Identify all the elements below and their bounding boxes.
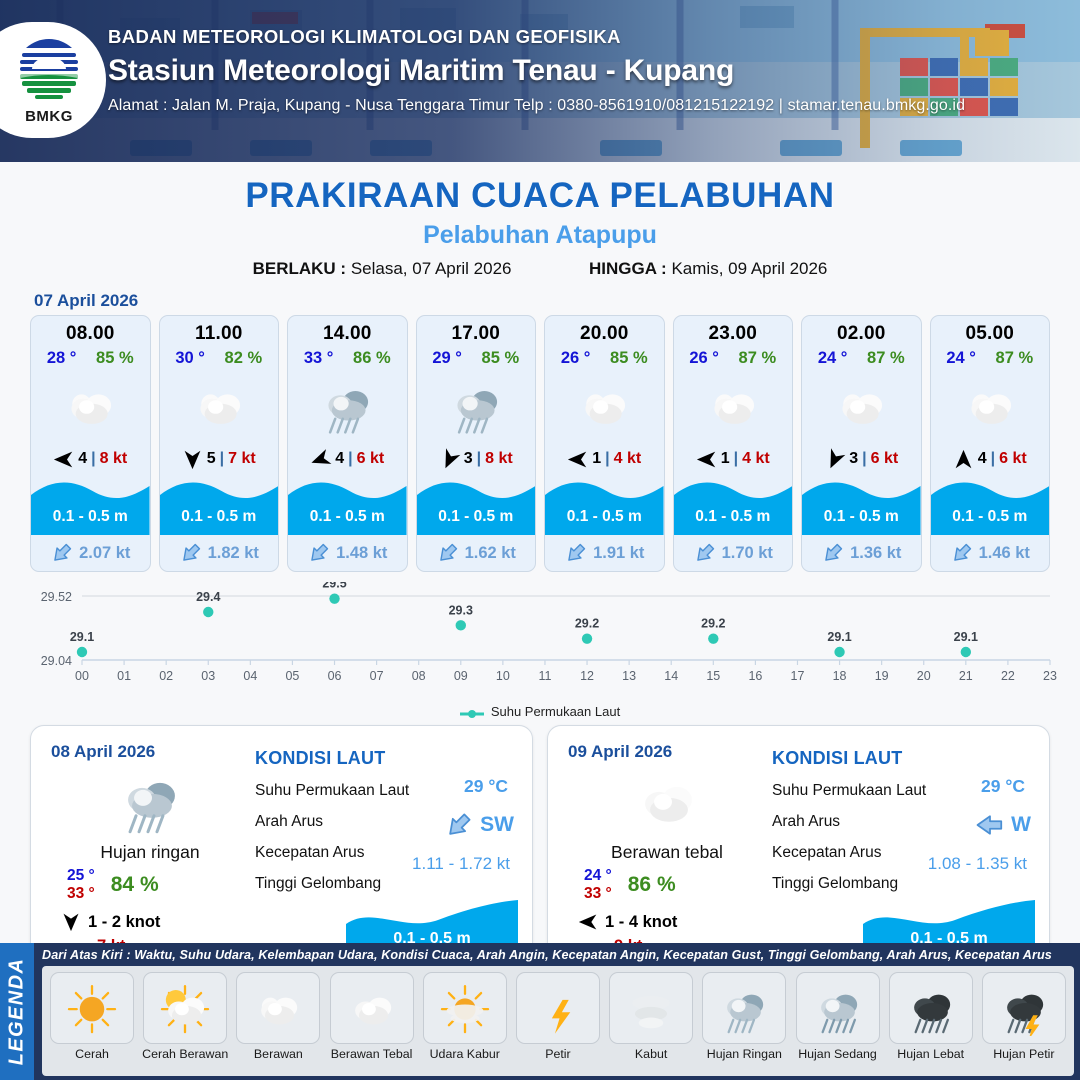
card-current: 1.91 kt: [545, 535, 664, 571]
hujan-lebat-icon: [901, 980, 961, 1035]
card-wave-height: 0.1 - 0.5 m: [674, 508, 793, 526]
page-subtitle: Pelabuhan Atapupu: [0, 221, 1080, 250]
svg-text:02: 02: [159, 669, 173, 683]
card-humidity: 86 %: [353, 349, 391, 368]
card-temperature: 26 °: [689, 349, 719, 368]
card-wind: 1 | 4 kt: [674, 442, 793, 476]
svg-text:17: 17: [791, 669, 805, 683]
bmkg-emblem-icon: [12, 36, 86, 102]
svg-text:29.1: 29.1: [70, 630, 94, 644]
outlook-temp-max: 33 °: [584, 885, 612, 903]
card-weather-icon: [288, 370, 407, 440]
card-wind-dir-number: 1: [721, 450, 730, 468]
outlook-condition: Hujan ringan: [51, 842, 249, 863]
cerah-icon: [62, 980, 122, 1035]
svg-text:29.5: 29.5: [322, 582, 346, 591]
berawan-tebal-icon: [342, 980, 402, 1035]
legend-item-icon: [609, 972, 693, 1044]
card-wind-dir-number: 4: [335, 450, 344, 468]
card-time: 14.00: [288, 323, 407, 345]
svg-text:05: 05: [285, 669, 299, 683]
kabut-icon: [621, 980, 681, 1035]
wave-shape-icon: [31, 477, 150, 535]
cerah-berawan-icon: [155, 980, 215, 1035]
wave-shape-icon: [545, 477, 664, 535]
svg-text:13: 13: [622, 669, 636, 683]
wind-direction-icon: [307, 446, 334, 473]
legend-item-icon: [982, 972, 1066, 1044]
card-wave-height: 0.1 - 0.5 m: [545, 508, 664, 526]
current-direction-icon: [431, 536, 465, 570]
berawan-icon: [186, 375, 252, 436]
valid-from-value: Selasa, 07 April 2026: [351, 259, 512, 278]
current-direction-value: W: [975, 810, 1031, 840]
svg-text:11: 11: [538, 669, 551, 683]
header-text-block: BADAN METEOROLOGI KLIMATOLOGI DAN GEOFIS…: [108, 26, 965, 115]
card-wind-separator: |: [605, 450, 609, 468]
forecast-card: 14.00 33 ° 86 % 4 | 6 kt 0.1 - 0.5 m 1.: [287, 315, 408, 572]
hujan-ringan-icon: [314, 375, 380, 436]
card-current: 1.46 kt: [931, 535, 1050, 571]
svg-text:08: 08: [412, 669, 426, 683]
wave-shape-icon: [674, 477, 793, 535]
legend-item-icon: [50, 972, 134, 1044]
wave-shape-icon: [417, 477, 536, 535]
current-speed-label: Kecepatan Arus: [772, 844, 881, 862]
card-current-speed: 1.48 kt: [336, 544, 387, 563]
sst-chart-svg: 29.5229.04000102030405060708091011121314…: [20, 582, 1060, 702]
current-direction-icon: [174, 536, 208, 570]
card-current: 2.07 kt: [31, 535, 150, 571]
station-address: Alamat : Jalan M. Praja, Kupang - Nusa T…: [108, 97, 965, 115]
card-current-speed: 1.70 kt: [722, 544, 773, 563]
card-humidity: 85 %: [96, 349, 134, 368]
legend-item-label: Cerah: [46, 1047, 138, 1061]
outlook-weather-icon: [568, 764, 766, 836]
legend-items: Cerah Cerah Berawan Berawan Berawan Teba…: [42, 966, 1074, 1076]
hujan-ringan-icon: [443, 375, 509, 436]
current-direction-icon: [688, 536, 722, 570]
card-temperature: 24 °: [818, 349, 848, 368]
station-name: Stasiun Meteorologi Maritim Tenau - Kupa…: [108, 54, 965, 88]
outlook-wind-text: 1 - 4 knot: [605, 913, 677, 932]
legend-note: Dari Atas Kiri : Waktu, Suhu Udara, Kele…: [42, 948, 1074, 962]
svg-text:18: 18: [833, 669, 847, 683]
svg-text:29.04: 29.04: [41, 654, 72, 668]
card-wind-separator: |: [477, 450, 481, 468]
card-current: 1.62 kt: [417, 535, 536, 571]
card-wind-separator: |: [991, 450, 995, 468]
sst-chart: 29.5229.04000102030405060708091011121314…: [20, 582, 1060, 702]
current-direction-text: W: [1011, 813, 1031, 837]
valid-to-label: HINGGA :: [589, 259, 667, 278]
svg-text:06: 06: [328, 669, 342, 683]
page-header: BMKG BADAN METEOROLOGI KLIMATOLOGI DAN G…: [0, 0, 1080, 162]
legend-item-label: Hujan Petir: [978, 1047, 1070, 1061]
card-wind-speed: 6 kt: [871, 450, 899, 468]
sst-chart-legend: Suhu Permukaan Laut: [0, 704, 1080, 719]
legend-item-icon: [330, 972, 414, 1044]
card-weather-icon: [931, 370, 1050, 440]
legend-item-label: Cerah Berawan: [139, 1047, 231, 1061]
forecast-card: 02.00 24 ° 87 % 3 | 6 kt 0.1 - 0.5 m 1.: [801, 315, 922, 572]
daily-outlook-row: 08 April 2026 Hujan ringan 25 ° 33 ° 84 …: [0, 719, 1080, 973]
current-direction-label: Arah Arus: [255, 813, 323, 831]
wind-direction-icon: [567, 449, 588, 470]
card-wind-separator: |: [91, 450, 95, 468]
svg-text:20: 20: [917, 669, 931, 683]
legend-item-icon: [143, 972, 227, 1044]
card-weather-icon: [802, 370, 921, 440]
card-wind: 4 | 6 kt: [931, 442, 1050, 476]
sea-conditions-heading: KONDISI LAUT: [255, 748, 514, 769]
current-speed-value: 1.08 - 1.35 kt: [928, 854, 1027, 874]
current-direction-icon: [945, 536, 979, 570]
hujan-sedang-icon: [808, 980, 868, 1035]
card-temperature: 28 °: [47, 349, 77, 368]
legend-item-icon: [889, 972, 973, 1044]
bmkg-logo-text: BMKG: [11, 108, 87, 125]
legend-bar: LEGENDA Dari Atas Kiri : Waktu, Suhu Uda…: [0, 943, 1080, 1080]
card-wave-block: 0.1 - 0.5 m: [31, 477, 150, 535]
card-wave-block: 0.1 - 0.5 m: [674, 477, 793, 535]
current-direction-value: SW: [444, 810, 514, 840]
svg-text:22: 22: [1001, 669, 1015, 683]
berawan-icon: [248, 980, 308, 1035]
card-wind-dir-number: 4: [78, 450, 87, 468]
card-wave-block: 0.1 - 0.5 m: [931, 477, 1050, 535]
valid-to-value: Kamis, 09 April 2026: [671, 259, 827, 278]
card-wind-speed: 7 kt: [228, 450, 256, 468]
card-wind-speed: 6 kt: [999, 450, 1027, 468]
wind-direction-icon: [953, 449, 974, 470]
wave-shape-icon: [931, 477, 1050, 535]
outlook-temp-max: 33 °: [67, 885, 95, 903]
current-direction-icon: [975, 810, 1005, 840]
card-temperature: 33 °: [304, 349, 334, 368]
svg-text:29.2: 29.2: [701, 617, 725, 631]
card-current: 1.82 kt: [160, 535, 279, 571]
svg-text:29.1: 29.1: [827, 630, 851, 644]
legend-item: Cerah Berawan: [139, 972, 231, 1061]
card-weather-icon: [674, 370, 793, 440]
legend-item: Hujan Petir: [978, 972, 1070, 1061]
card-wind-separator: |: [862, 450, 866, 468]
card-wind-speed: 8 kt: [485, 450, 513, 468]
card-humidity: 87 %: [867, 349, 905, 368]
card-time: 05.00: [931, 323, 1050, 345]
card-wind-speed: 4 kt: [614, 450, 642, 468]
wave-height-label: Tinggi Gelombang: [772, 875, 898, 893]
legend-item-label: Hujan Sedang: [792, 1047, 884, 1061]
svg-text:15: 15: [706, 669, 720, 683]
svg-text:29.2: 29.2: [575, 617, 599, 631]
udara-kabur-icon: [435, 980, 495, 1035]
outlook-humidity: 84 %: [111, 873, 159, 897]
sst-label: Suhu Permukaan Laut: [255, 782, 409, 800]
card-wave-block: 0.1 - 0.5 m: [288, 477, 407, 535]
legend-item: Petir: [512, 972, 604, 1061]
svg-text:16: 16: [748, 669, 762, 683]
card-humidity: 85 %: [610, 349, 648, 368]
sea-conditions-heading: KONDISI LAUT: [772, 748, 1031, 769]
valid-from-label: BERLAKU :: [253, 259, 347, 278]
wind-direction-icon: [61, 912, 81, 932]
outlook-wind-text: 1 - 2 knot: [88, 913, 160, 932]
card-current-speed: 1.46 kt: [979, 544, 1030, 563]
card-humidity: 85 %: [482, 349, 520, 368]
card-current: 1.70 kt: [674, 535, 793, 571]
legend-marker-icon: [460, 707, 484, 717]
svg-text:29.52: 29.52: [41, 590, 72, 604]
sst-label: Suhu Permukaan Laut: [772, 782, 926, 800]
daily-outlook-panel: 09 April 2026 Berawan tebal 24 ° 33 ° 86…: [547, 725, 1050, 973]
current-speed-value: 1.11 - 1.72 kt: [412, 854, 510, 874]
card-wind: 3 | 6 kt: [802, 442, 921, 476]
hourly-forecast-row: 08.00 28 ° 85 % 4 | 8 kt 0.1 - 0.5 m 2.: [0, 315, 1080, 572]
card-weather-icon: [31, 370, 150, 440]
svg-text:23: 23: [1043, 669, 1057, 683]
berawan-icon: [957, 375, 1023, 436]
outlook-sea-conditions: KONDISI LAUT Suhu Permukaan Laut Arah Ar…: [766, 726, 1049, 972]
card-wave-height: 0.1 - 0.5 m: [160, 508, 279, 526]
card-time: 20.00: [545, 323, 664, 345]
card-time: 17.00: [417, 323, 536, 345]
current-direction-icon: [45, 536, 79, 570]
legend-item: Berawan Tebal: [326, 972, 418, 1061]
outlook-left: 09 April 2026 Berawan tebal 24 ° 33 ° 86…: [548, 726, 766, 972]
hujan-petir-icon: [994, 980, 1054, 1035]
wind-direction-icon: [821, 445, 849, 473]
svg-text:19: 19: [875, 669, 889, 683]
card-wind-speed: 8 kt: [100, 450, 128, 468]
berawan-icon: [700, 375, 766, 436]
svg-text:03: 03: [201, 669, 215, 683]
current-direction-icon: [816, 536, 850, 570]
sst-value: 29 °C: [464, 776, 508, 797]
svg-text:21: 21: [959, 669, 973, 683]
card-time: 02.00: [802, 323, 921, 345]
card-humidity: 87 %: [996, 349, 1034, 368]
card-wind-separator: |: [348, 450, 352, 468]
svg-text:14: 14: [664, 669, 678, 683]
outlook-temp-min: 25 °: [67, 867, 95, 885]
card-wind-speed: 6 kt: [357, 450, 385, 468]
card-wave-height: 0.1 - 0.5 m: [931, 508, 1050, 526]
card-temperature: 24 °: [946, 349, 976, 368]
card-wave-block: 0.1 - 0.5 m: [417, 477, 536, 535]
legend-item: Udara Kabur: [419, 972, 511, 1061]
wind-direction-icon: [182, 449, 203, 470]
card-current-speed: 1.62 kt: [465, 544, 516, 563]
card-wave-block: 0.1 - 0.5 m: [802, 477, 921, 535]
card-humidity: 82 %: [225, 349, 263, 368]
legend-item-label: Hujan Lebat: [885, 1047, 977, 1061]
outlook-wind: 1 - 4 knot: [568, 912, 766, 932]
outlook-date: 09 April 2026: [568, 742, 766, 762]
legend-item-label: Hujan Ringan: [698, 1047, 790, 1061]
outlook-temps: 25 ° 33 ° 84 %: [51, 867, 249, 903]
card-temperature: 29 °: [432, 349, 462, 368]
page-title: PRAKIRAAN CUACA PELABUHAN: [0, 176, 1080, 216]
card-weather-icon: [545, 370, 664, 440]
petir-icon: [528, 980, 588, 1035]
card-weather-icon: [160, 370, 279, 440]
svg-text:29.1: 29.1: [954, 630, 978, 644]
legend-item: Kabut: [605, 972, 697, 1061]
outlook-temp-min: 24 °: [584, 867, 612, 885]
forecast-card: 20.00 26 ° 85 % 1 | 4 kt 0.1 - 0.5 m 1.: [544, 315, 665, 572]
daily-outlook-panel: 08 April 2026 Hujan ringan 25 ° 33 ° 84 …: [30, 725, 533, 973]
card-wind: 4 | 8 kt: [31, 442, 150, 476]
agency-name: BADAN METEOROLOGI KLIMATOLOGI DAN GEOFIS…: [108, 26, 965, 48]
svg-text:00: 00: [75, 669, 89, 683]
card-humidity: 87 %: [739, 349, 777, 368]
card-time: 11.00: [160, 323, 279, 345]
card-wind-separator: |: [734, 450, 738, 468]
wave-shape-icon: [288, 477, 407, 535]
card-wind-dir-number: 4: [978, 450, 987, 468]
berawan-icon: [828, 375, 894, 436]
legend-item-label: Petir: [512, 1047, 604, 1061]
card-wind-dir-number: 5: [207, 450, 216, 468]
card-time: 23.00: [674, 323, 793, 345]
card-time: 08.00: [31, 323, 150, 345]
legend-item-label: Berawan Tebal: [326, 1047, 418, 1061]
current-speed-label: Kecepatan Arus: [255, 844, 364, 862]
svg-text:09: 09: [454, 669, 468, 683]
card-wave-block: 0.1 - 0.5 m: [545, 477, 664, 535]
legend-item-icon: [702, 972, 786, 1044]
legend-item: Berawan: [232, 972, 324, 1061]
card-wave-height: 0.1 - 0.5 m: [31, 508, 150, 526]
outlook-weather-icon: [51, 764, 249, 836]
legend-item: Cerah: [46, 972, 138, 1061]
wind-direction-icon: [578, 912, 598, 932]
wind-direction-icon: [696, 449, 717, 470]
forecast-card: 05.00 24 ° 87 % 4 | 6 kt 0.1 - 0.5 m 1.: [930, 315, 1051, 572]
wind-direction-icon: [435, 445, 463, 473]
card-wind: 5 | 7 kt: [160, 442, 279, 476]
wave-shape-icon: [160, 477, 279, 535]
berawan-tebal-icon: [628, 764, 706, 836]
legend-item-label: Udara Kabur: [419, 1047, 511, 1061]
card-wind-dir-number: 3: [464, 450, 473, 468]
title-block: PRAKIRAAN CUACA PELABUHAN Pelabuhan Atap…: [0, 162, 1080, 279]
forecast-day-label: 07 April 2026: [34, 291, 1080, 311]
outlook-date: 08 April 2026: [51, 742, 249, 762]
legend-item-icon: [796, 972, 880, 1044]
hujan-ringan-icon: [111, 764, 189, 836]
berawan-icon: [57, 375, 123, 436]
card-wind-dir-number: 1: [592, 450, 601, 468]
wave-height-label: Tinggi Gelombang: [255, 875, 381, 893]
card-wave-height: 0.1 - 0.5 m: [802, 508, 921, 526]
card-wave-height: 0.1 - 0.5 m: [288, 508, 407, 526]
wave-shape-icon: [802, 477, 921, 535]
card-wave-block: 0.1 - 0.5 m: [160, 477, 279, 535]
legend-item-label: Kabut: [605, 1047, 697, 1061]
outlook-left: 08 April 2026 Hujan ringan 25 ° 33 ° 84 …: [31, 726, 249, 972]
card-current-speed: 1.82 kt: [208, 544, 259, 563]
legend-item: Hujan Sedang: [792, 972, 884, 1061]
svg-text:10: 10: [496, 669, 510, 683]
card-current-speed: 2.07 kt: [79, 544, 130, 563]
card-wind: 1 | 4 kt: [545, 442, 664, 476]
legend-item: Hujan Ringan: [698, 972, 790, 1061]
current-direction-label: Arah Arus: [772, 813, 840, 831]
outlook-temps: 24 ° 33 ° 86 %: [568, 867, 766, 903]
current-direction-icon: [302, 536, 336, 570]
legend-label-sst: Suhu Permukaan Laut: [491, 704, 620, 719]
current-direction-text: SW: [480, 813, 514, 837]
outlook-condition: Berawan tebal: [568, 842, 766, 863]
outlook-sea-conditions: KONDISI LAUT Suhu Permukaan Laut Arah Ar…: [249, 726, 532, 972]
card-weather-icon: [417, 370, 536, 440]
card-wind-dir-number: 3: [849, 450, 858, 468]
outlook-humidity: 86 %: [628, 873, 676, 897]
card-wind-speed: 4 kt: [742, 450, 770, 468]
card-current: 1.48 kt: [288, 535, 407, 571]
card-wind: 3 | 8 kt: [417, 442, 536, 476]
sst-value: 29 °C: [981, 776, 1025, 797]
legend-item-label: Berawan: [232, 1047, 324, 1061]
card-current: 1.36 kt: [802, 535, 921, 571]
svg-text:12: 12: [580, 669, 594, 683]
legend-item-icon: [516, 972, 600, 1044]
svg-text:07: 07: [370, 669, 384, 683]
forecast-card: 17.00 29 ° 85 % 3 | 8 kt 0.1 - 0.5 m 1.: [416, 315, 537, 572]
berawan-icon: [571, 375, 637, 436]
current-direction-icon: [559, 536, 593, 570]
forecast-card: 08.00 28 ° 85 % 4 | 8 kt 0.1 - 0.5 m 2.: [30, 315, 151, 572]
hujan-ringan-icon: [714, 980, 774, 1035]
card-wind-separator: |: [220, 450, 224, 468]
legend-item: Hujan Lebat: [885, 972, 977, 1061]
svg-text:04: 04: [243, 669, 257, 683]
forecast-card: 23.00 26 ° 87 % 1 | 4 kt 0.1 - 0.5 m 1.: [673, 315, 794, 572]
card-temperature: 30 °: [175, 349, 205, 368]
wind-direction-icon: [53, 449, 74, 470]
legend-item-icon: [236, 972, 320, 1044]
svg-text:01: 01: [117, 669, 131, 683]
card-temperature: 26 °: [561, 349, 591, 368]
legend-side-title: LEGENDA: [0, 943, 34, 1080]
validity-line: BERLAKU : Selasa, 07 April 2026 HINGGA :…: [0, 259, 1080, 279]
legend-side-text: LEGENDA: [6, 958, 29, 1066]
forecast-card: 11.00 30 ° 82 % 5 | 7 kt 0.1 - 0.5 m 1.: [159, 315, 280, 572]
outlook-wind: 1 - 2 knot: [51, 912, 249, 932]
svg-text:29.4: 29.4: [196, 590, 220, 604]
current-direction-icon: [438, 804, 480, 846]
card-wave-height: 0.1 - 0.5 m: [417, 508, 536, 526]
card-current-speed: 1.91 kt: [593, 544, 644, 563]
legend-item-icon: [423, 972, 507, 1044]
svg-text:29.3: 29.3: [449, 603, 473, 617]
card-wind: 4 | 6 kt: [288, 442, 407, 476]
card-current-speed: 1.36 kt: [850, 544, 901, 563]
